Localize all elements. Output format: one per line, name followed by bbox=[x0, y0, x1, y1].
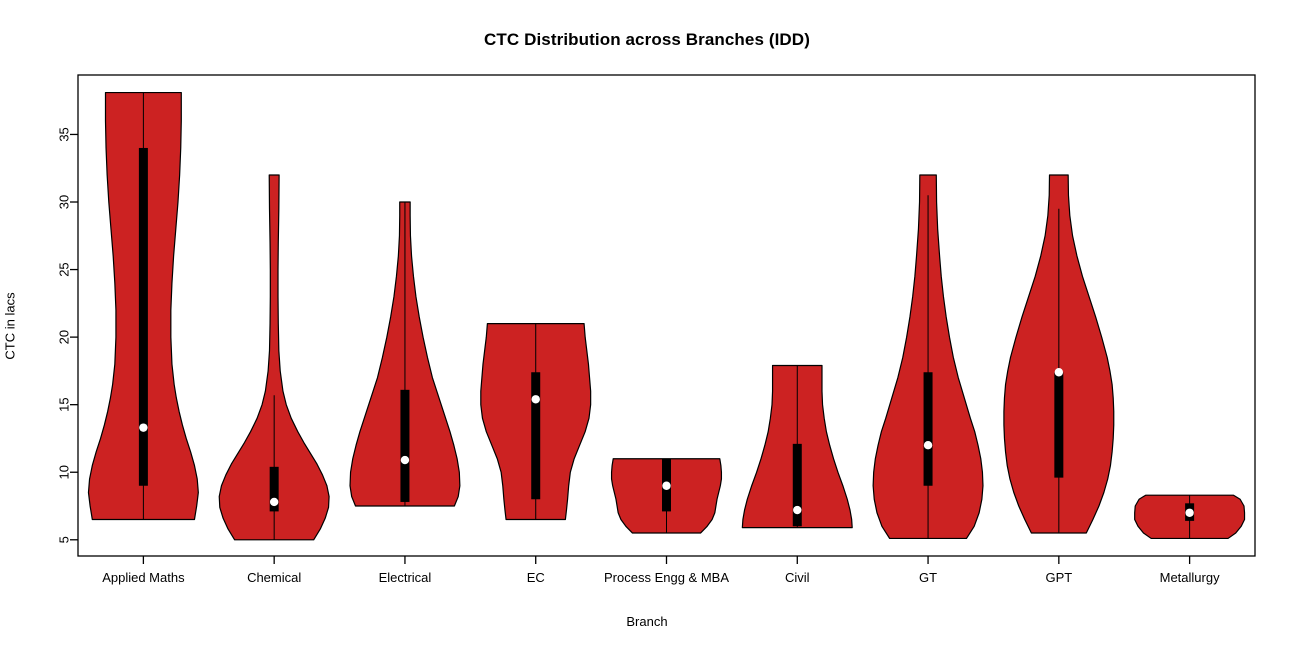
median-point-gpt bbox=[1055, 368, 1063, 376]
x-tick-label-process-engg-mba: Process Engg & MBA bbox=[604, 570, 729, 585]
violin-plot-canvas: 5101520253035Applied MathsChemicalElectr… bbox=[0, 0, 1294, 653]
iqr-box-gt bbox=[924, 372, 933, 485]
iqr-box-electrical bbox=[400, 390, 409, 502]
y-tick-label-15: 15 bbox=[57, 397, 72, 411]
median-point-gt bbox=[924, 441, 932, 449]
y-tick-label-30: 30 bbox=[57, 195, 72, 209]
y-tick-label-25: 25 bbox=[57, 262, 72, 276]
iqr-box-ec bbox=[531, 372, 540, 499]
x-tick-label-gpt: GPT bbox=[1045, 570, 1072, 585]
x-tick-label-applied-maths: Applied Maths bbox=[102, 570, 185, 585]
iqr-box-applied-maths bbox=[139, 148, 148, 486]
x-tick-label-metallurgy: Metallurgy bbox=[1160, 570, 1220, 585]
median-point-applied-maths bbox=[139, 423, 147, 431]
x-tick-label-ec: EC bbox=[527, 570, 545, 585]
x-tick-label-civil: Civil bbox=[785, 570, 810, 585]
y-tick-label-20: 20 bbox=[57, 330, 72, 344]
y-tick-label-5: 5 bbox=[57, 536, 72, 543]
median-point-metallurgy bbox=[1185, 509, 1193, 517]
median-point-ec bbox=[532, 395, 540, 403]
median-point-chemical bbox=[270, 498, 278, 506]
x-tick-label-chemical: Chemical bbox=[247, 570, 301, 585]
median-point-civil bbox=[793, 506, 801, 514]
x-tick-label-electrical: Electrical bbox=[379, 570, 432, 585]
x-tick-label-gt: GT bbox=[919, 570, 937, 585]
iqr-box-gpt bbox=[1054, 372, 1063, 477]
y-tick-label-35: 35 bbox=[57, 127, 72, 141]
median-point-electrical bbox=[401, 456, 409, 464]
median-point-process-engg-mba bbox=[662, 482, 670, 490]
chart-root: CTC Distribution across Branches (IDD) C… bbox=[0, 0, 1294, 653]
y-tick-label-10: 10 bbox=[57, 465, 72, 479]
violins-layer bbox=[88, 93, 1244, 540]
